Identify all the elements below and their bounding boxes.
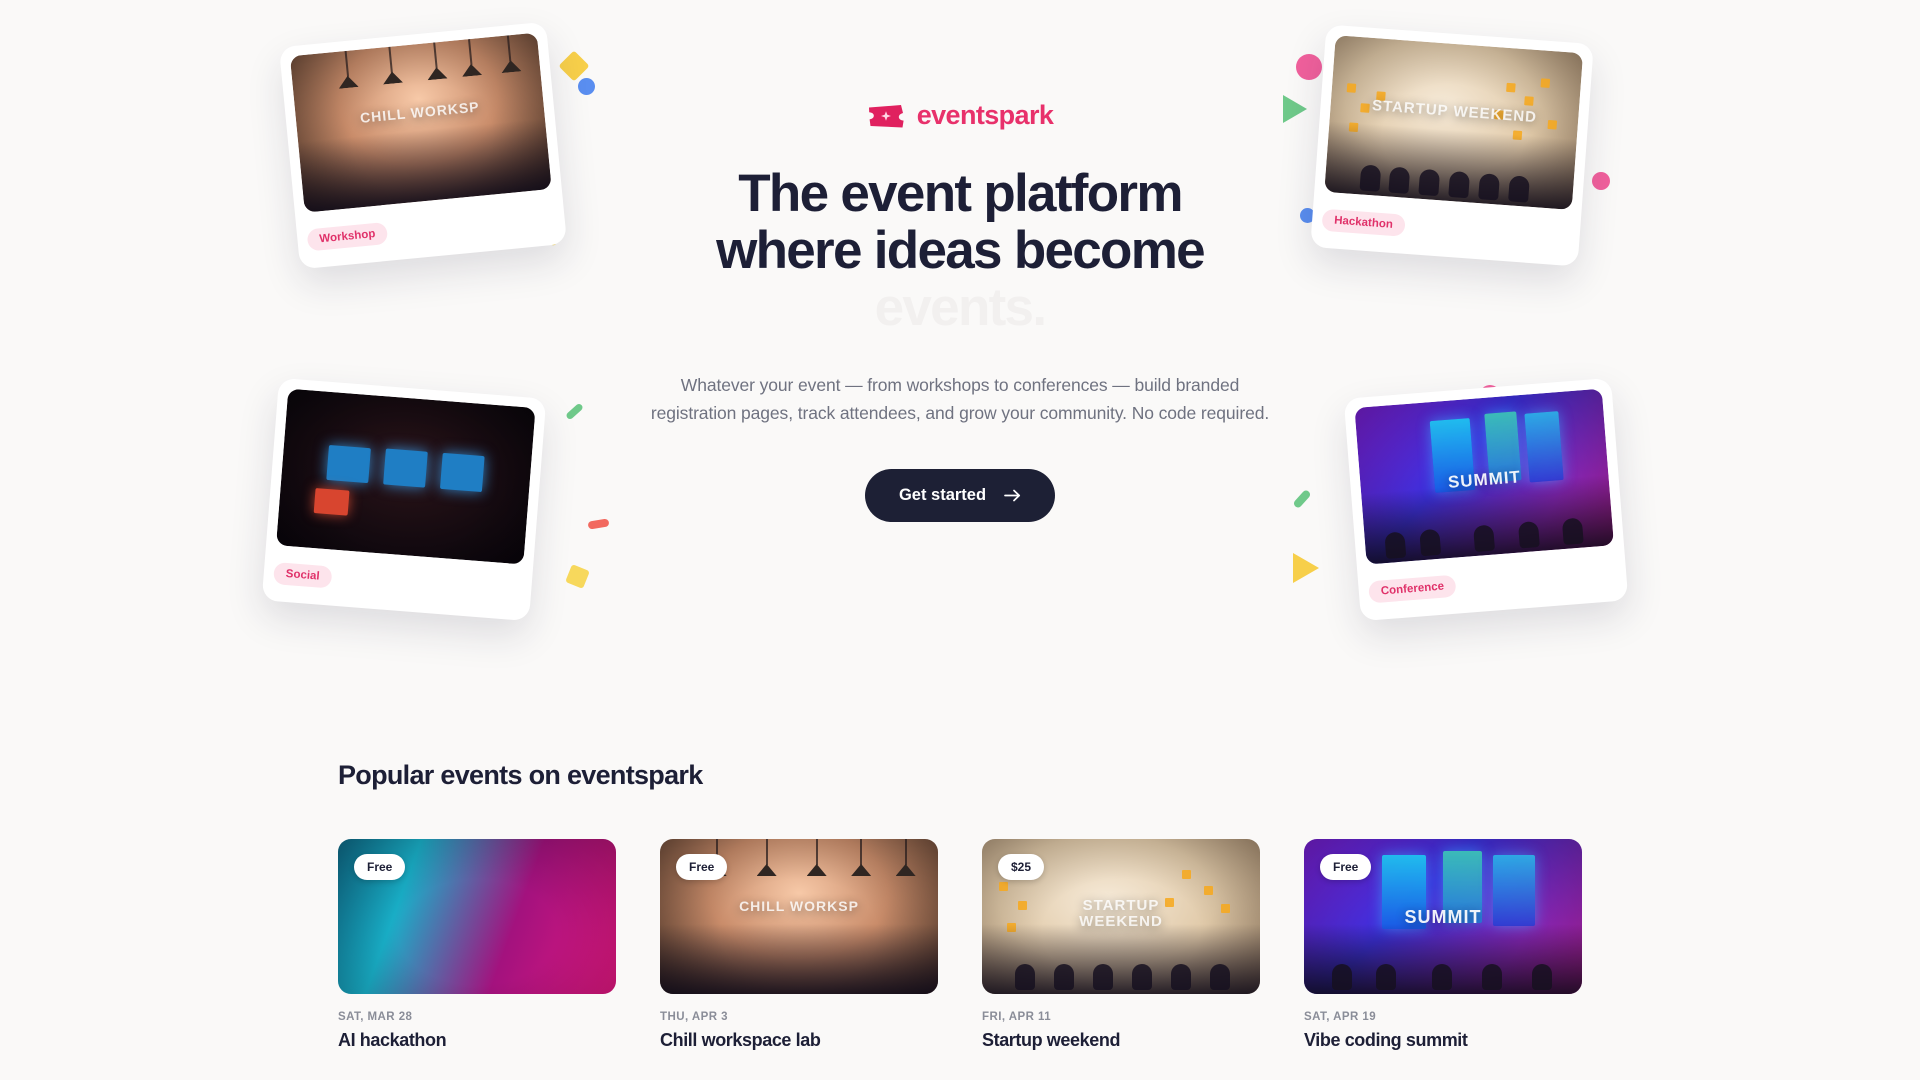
photo-foreground	[660, 924, 938, 994]
blue-circle-shape	[578, 78, 595, 95]
brand-lockup[interactable]: eventspark	[640, 100, 1280, 131]
green-triangle-shape	[1283, 95, 1307, 123]
hero-section: CHILL WORKSP Workshop STARTUP WEEKEND	[0, 0, 1920, 668]
event-card[interactable]: $25 STARTUPWEEKEND	[982, 839, 1260, 1051]
hero-subheading: Whatever your event — from workshops to …	[640, 371, 1280, 428]
event-image-caption: CHILL WORKSP	[660, 898, 938, 914]
card-category-badge: Social	[273, 562, 332, 588]
card-image: STARTUP WEEKEND	[1324, 35, 1583, 210]
card-image: CHILL WORKSP	[290, 33, 552, 213]
event-card[interactable]: Free SUMMIT SAT, APR 19	[1304, 839, 1582, 1051]
headline-line-3: events.	[875, 278, 1046, 337]
get-started-label: Get started	[899, 486, 986, 505]
floating-card-conference[interactable]: SUMMIT Conference	[1344, 378, 1629, 621]
event-price-badge: Free	[354, 854, 405, 880]
event-date: THU, APR 3	[660, 1011, 938, 1023]
yellow-square-shape	[565, 564, 590, 589]
card-image: SUMMIT	[1354, 389, 1614, 565]
floating-card-social[interactable]: Social	[262, 378, 547, 621]
green-dash-shape	[565, 403, 584, 421]
monitor-screens	[276, 389, 536, 565]
landing-page: CHILL WORKSP Workshop STARTUP WEEKEND	[0, 0, 1920, 1080]
event-title: AI hackathon	[338, 1030, 616, 1051]
headline-line-1: The event platform	[738, 164, 1182, 223]
event-card[interactable]: Free SAT, MAR 28 AI hackathon	[338, 839, 616, 1051]
events-grid: Free SAT, MAR 28 AI hackathon Free CHILL	[338, 839, 1582, 1051]
pink-circle-shape	[1592, 172, 1610, 190]
brand-name: eventspark	[917, 100, 1054, 131]
hero-content: eventspark The event platform where idea…	[640, 100, 1280, 522]
section-title: Popular events on eventspark	[338, 760, 1582, 791]
pink-circle-shape	[1296, 54, 1322, 80]
ticket-sparkle-icon	[867, 103, 905, 129]
card-category-badge: Hackathon	[1321, 209, 1405, 237]
card-image	[276, 389, 536, 565]
floating-card-workshop[interactable]: CHILL WORKSP Workshop	[279, 22, 567, 270]
event-date: SAT, APR 19	[1304, 1011, 1582, 1023]
headline-line-2: where ideas become	[716, 221, 1204, 280]
card-category-badge: Conference	[1368, 575, 1457, 604]
floating-card-hackathon[interactable]: STARTUP WEEKEND Hackathon	[1310, 24, 1594, 266]
photo-foreground	[982, 924, 1260, 994]
red-dash-shape	[588, 518, 610, 529]
event-title: Chill workspace lab	[660, 1030, 938, 1051]
yellow-diamond-shape	[558, 50, 589, 81]
photo-foreground	[1304, 924, 1582, 994]
event-price-badge: Free	[676, 854, 727, 880]
yellow-triangle-shape	[1293, 553, 1319, 583]
popular-events-section: Popular events on eventspark Free SAT, M…	[0, 760, 1920, 1051]
event-card[interactable]: Free CHILL WORKSP THU, APR 3 Chill works…	[660, 839, 938, 1051]
event-title: Startup weekend	[982, 1030, 1260, 1051]
event-date: FRI, APR 11	[982, 1011, 1260, 1023]
card-category-badge: Workshop	[307, 222, 389, 252]
arrow-right-icon	[1004, 489, 1021, 502]
event-price-badge: $25	[998, 854, 1044, 880]
page-title: The event platform where ideas become ev…	[640, 165, 1280, 337]
green-dash-shape	[1292, 489, 1311, 509]
event-date: SAT, MAR 28	[338, 1011, 616, 1023]
get-started-button[interactable]: Get started	[865, 469, 1055, 522]
event-price-badge: Free	[1320, 854, 1371, 880]
event-title: Vibe coding summit	[1304, 1030, 1582, 1051]
